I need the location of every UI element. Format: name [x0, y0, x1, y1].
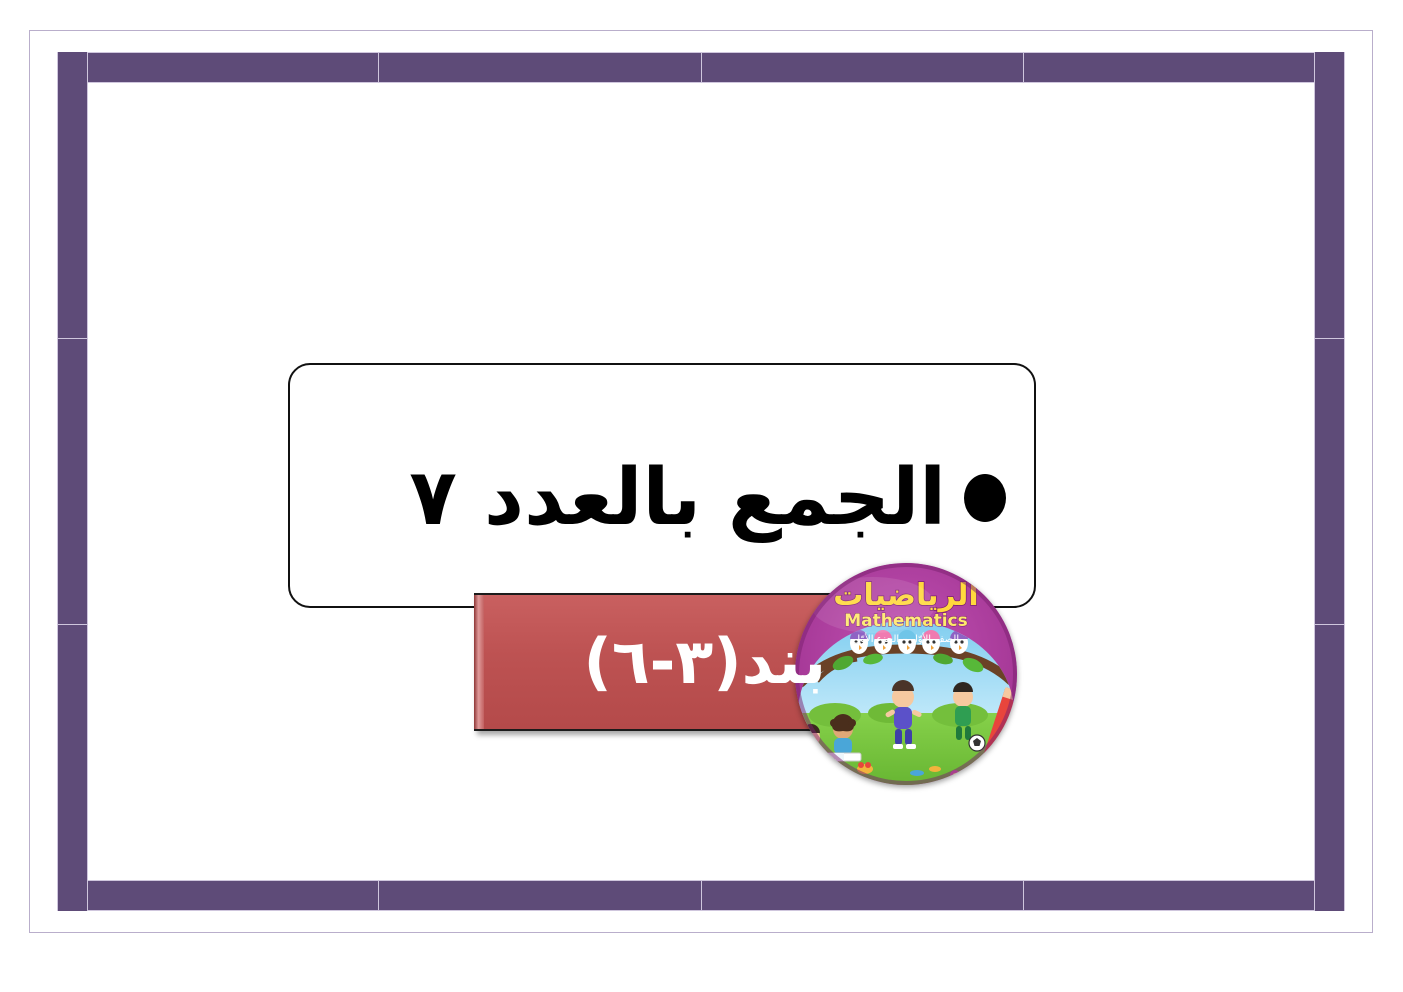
frame-segment	[1315, 339, 1344, 626]
frame-segment	[1315, 625, 1344, 911]
frame-border-top	[57, 52, 1345, 83]
frame-segment	[379, 53, 701, 82]
frame-segment	[1024, 53, 1345, 82]
badge-subtitle-arabic: الصف الأوّل – الجزء الأوّل	[853, 632, 959, 645]
slide-page: الجمع بالعدد ٧ بند(٣-٦)	[0, 0, 1403, 992]
frame-segment	[58, 339, 87, 626]
frame-segment	[379, 881, 701, 910]
frame-border-right	[1314, 52, 1345, 911]
frame-segment	[57, 881, 379, 910]
frame-segment	[58, 52, 87, 339]
frame-border-bottom	[57, 880, 1345, 911]
frame-segment	[1024, 881, 1345, 910]
frame-segment	[57, 53, 379, 82]
bullet-dot-icon	[964, 474, 1006, 522]
frame-segment	[1315, 52, 1344, 339]
lesson-title-row: الجمع بالعدد ٧	[290, 443, 1034, 553]
lesson-section-label: بند(٣-٦)	[584, 631, 827, 693]
mathematics-textbook-badge: الرياضيات Mathematics الصف الأوّل – الجز…	[795, 563, 1017, 785]
frame-segment	[58, 625, 87, 911]
frame-border-left	[57, 52, 88, 911]
lesson-title-text: الجمع بالعدد ٧	[409, 459, 946, 537]
badge-artwork: الرياضيات Mathematics الصف الأوّل – الجز…	[795, 563, 1017, 785]
frame-segment	[702, 53, 1024, 82]
frame-segment	[702, 881, 1024, 910]
lesson-section-banner: بند(٣-٦)	[474, 593, 844, 731]
